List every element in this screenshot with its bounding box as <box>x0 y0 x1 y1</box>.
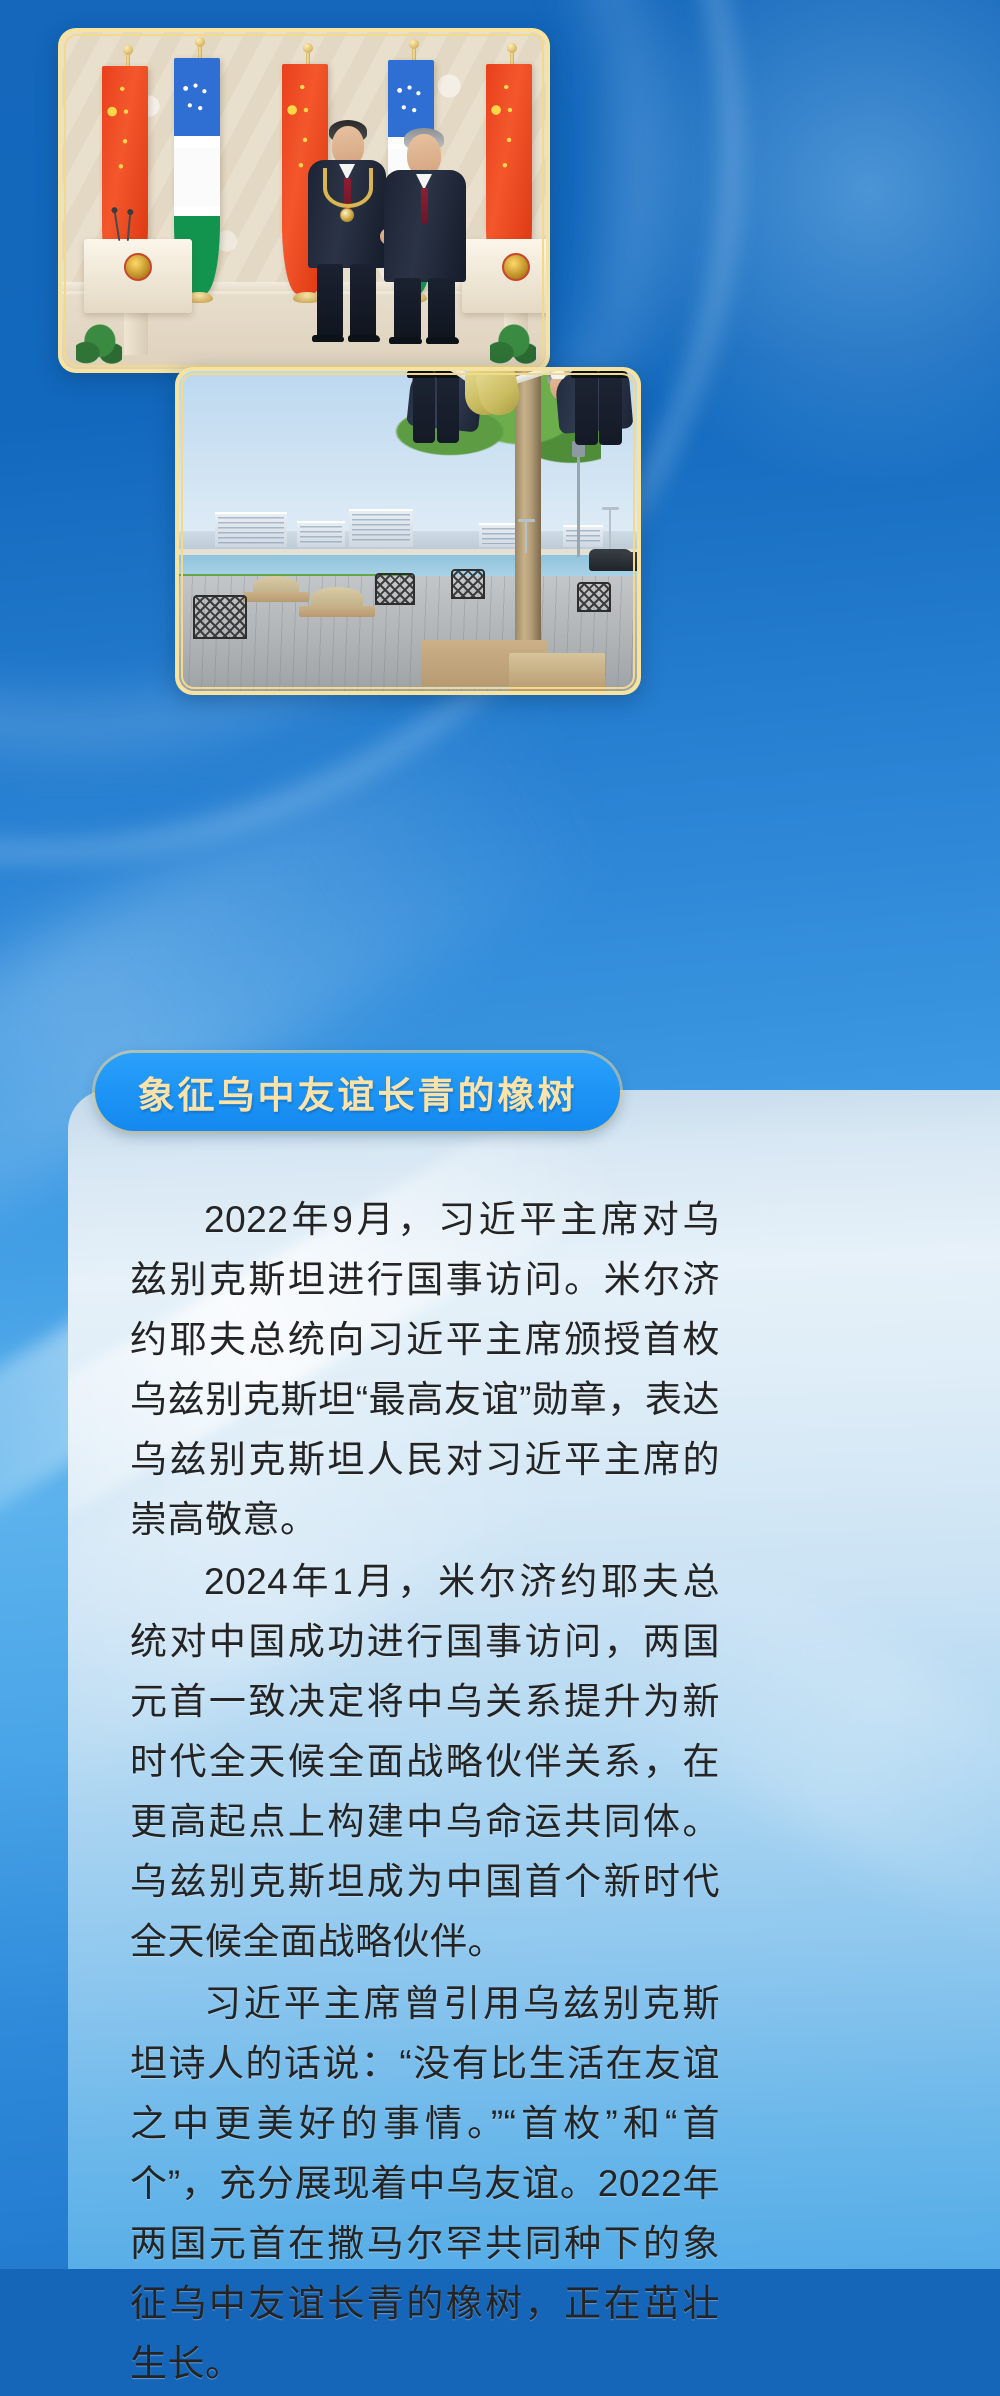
podium-stem-left <box>124 309 148 355</box>
mirziyoyev-leg-right <box>428 278 455 340</box>
xi-shoe-left <box>312 335 344 342</box>
friendship-order-collar <box>323 168 373 208</box>
xi-leg-right <box>350 264 376 338</box>
mirziyoyev2-leg-left <box>575 371 598 445</box>
park-bin-a <box>193 595 247 639</box>
article-paragraph-1: 2022年9月，习近平主席对乌兹别克斯坦进行国事访问。米尔济约耶夫总统向习近平主… <box>130 1190 720 1550</box>
mirziyoyev2-shoe-right <box>599 371 628 378</box>
mirziyoyev2-leg-right <box>599 371 622 445</box>
section-title-text: 象征乌中友谊长青的橡树 <box>138 1065 578 1119</box>
xi2-leg-left <box>413 371 435 443</box>
street-lamp-b <box>525 521 527 553</box>
potted-plant-right <box>490 324 536 366</box>
tree-planting-photo-frame <box>175 367 641 695</box>
friendship-order-medal <box>340 208 354 222</box>
xi-shoe-right <box>348 335 380 342</box>
xi-leg-left <box>317 264 343 338</box>
plank-b <box>299 606 375 617</box>
mirziyoyev2-cuff-a <box>551 371 565 379</box>
mirziyoyev-shoe-left <box>389 337 422 344</box>
mirziyoyev-leg-left <box>394 278 421 340</box>
park-bin-b <box>375 573 415 605</box>
mirziyoyev-tie <box>421 188 428 224</box>
street-lamp-a <box>609 509 611 554</box>
xi2-shoe-left <box>407 371 435 378</box>
plank-a <box>243 592 309 602</box>
planting-bed-sand <box>509 653 605 691</box>
mirziyoyev2-shoe-left <box>571 371 600 378</box>
handshake-photo <box>62 32 546 369</box>
stadium-light-pole <box>577 441 580 556</box>
mirziyoyev-shoe-right <box>426 337 459 344</box>
podium-right <box>462 239 546 313</box>
article-paragraph-2: 2024年1月，米尔济约耶夫总统对中国成功进行国事访问，两国元首一致决定将中乌关… <box>130 1552 720 1972</box>
photo2-building-c <box>349 509 413 547</box>
section-title-banner: 象征乌中友谊长青的橡树 <box>95 1053 620 1131</box>
motorcade-car-b <box>621 552 637 571</box>
handshake-photo-frame <box>58 28 550 373</box>
podium-left <box>84 239 192 313</box>
park-bin-c <box>451 569 485 599</box>
photo2-building-a <box>215 512 287 547</box>
park-bin-d <box>577 582 611 612</box>
photo2-building-b <box>297 521 345 547</box>
tree-planting-photo <box>179 371 637 691</box>
potted-plant-left <box>76 324 122 366</box>
photo2-building-e <box>563 525 603 547</box>
article-text: 2022年9月，习近平主席对乌兹别克斯坦进行国事访问。米尔济约耶夫总统向习近平主… <box>130 1190 720 2396</box>
article-paragraph-3: 习近平主席曾引用乌兹别克斯坦诗人的话说：“没有比生活在友谊之中更美好的事情。”“… <box>130 1974 720 2394</box>
xi2-leg-right <box>437 371 459 443</box>
